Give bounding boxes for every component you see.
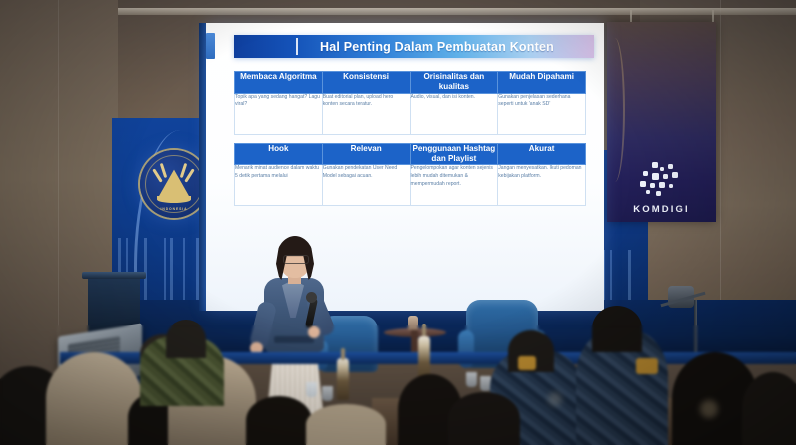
emblem-base	[157, 196, 191, 203]
table-cell: Jangan menyesatkan. Ikuti pedoman kebija…	[498, 165, 586, 206]
table-cell: Topik apa yang sedang hangat? Lagu viral…	[235, 93, 323, 134]
microphone-head	[306, 292, 317, 303]
table-row: Topik apa yang sedang hangat? Lagu viral…	[235, 93, 586, 134]
institution-emblem: INDONESIA	[140, 150, 208, 218]
banner-glow	[605, 38, 625, 182]
audience-member	[246, 396, 312, 445]
screen-left-frame	[199, 23, 206, 311]
table-cell: Gunakan penjelasan sederhana seperti unt…	[498, 93, 586, 134]
drinking-glass	[322, 386, 333, 401]
title-divider	[296, 38, 298, 55]
emblem-mountain-icon	[157, 170, 191, 200]
emblem-caption: INDONESIA	[140, 207, 208, 211]
podium-top	[82, 272, 146, 279]
drinking-glass	[306, 382, 317, 397]
table-cell: Pengelompokan agar konten sejenis lebih …	[410, 165, 498, 206]
drinking-glass	[466, 372, 477, 387]
audience-member-head	[592, 306, 642, 352]
table-header-row: Hook Relevan Penggunaan Hashtag dan Play…	[235, 143, 586, 165]
content-table: Membaca Algoritma Konsistensi Orisinalit…	[234, 71, 586, 206]
table-spacer	[235, 134, 586, 143]
table-header-cell: Konsistensi	[322, 72, 410, 94]
komdigi-wordmark: KOMDIGI	[607, 204, 716, 215]
komdigi-logo-icon	[638, 162, 686, 196]
presenter-belt	[274, 336, 314, 343]
bottle-neck	[422, 324, 426, 336]
table-header-cell: Hook	[235, 143, 323, 165]
slide-title: Hal Penting Dalam Pembuatan Konten	[234, 40, 594, 54]
eyeglasses-icon	[283, 255, 309, 264]
table-header-cell: Penggunaan Hashtag dan Playlist	[410, 143, 498, 165]
audience-member-head	[166, 320, 206, 358]
audience-member	[742, 372, 796, 445]
table-header-cell: Mudah Dipahami	[498, 72, 586, 94]
screen-side-tab	[206, 33, 215, 59]
bokeh-light	[548, 392, 562, 406]
table-header-cell: Relevan	[322, 143, 410, 165]
audience-member	[448, 392, 520, 445]
table-row: Menarik minat audience dalam waktu 5 det…	[235, 165, 586, 206]
table-header-cell: Orisinalitas dan kualitas	[410, 72, 498, 94]
slide-title-bar: Hal Penting Dalam Pembuatan Konten	[234, 35, 594, 58]
bottle-neck	[341, 348, 345, 360]
side-table-stem	[411, 330, 418, 352]
conference-presentation-scene: INDONESIA KOMDIGI Hal Penting	[0, 0, 796, 445]
table-cell: Gunakan pendekatan User Need Model sebag…	[322, 165, 410, 206]
audience-member-hijab	[306, 404, 386, 445]
table-vase	[408, 316, 418, 330]
table-cell: Menarik minat audience dalam waktu 5 det…	[235, 165, 323, 206]
komdigi-banner: KOMDIGI	[607, 22, 716, 222]
bokeh-light	[700, 400, 718, 418]
table-header-row: Membaca Algoritma Konsistensi Orisinalit…	[235, 72, 586, 94]
table-cell: Audio, visual, dan isi konten.	[410, 93, 498, 134]
presenter-right-hand	[308, 326, 320, 338]
ceiling-rail	[0, 8, 796, 15]
table-cell: Buat editorial plan, upload hero konten …	[322, 93, 410, 134]
presenter	[258, 236, 330, 416]
uniform-insignia	[518, 356, 536, 370]
uniform-insignia	[636, 358, 658, 374]
table-header-cell: Akurat	[498, 143, 586, 165]
table-header-cell: Membaca Algoritma	[235, 72, 323, 94]
water-bottle	[337, 358, 349, 400]
